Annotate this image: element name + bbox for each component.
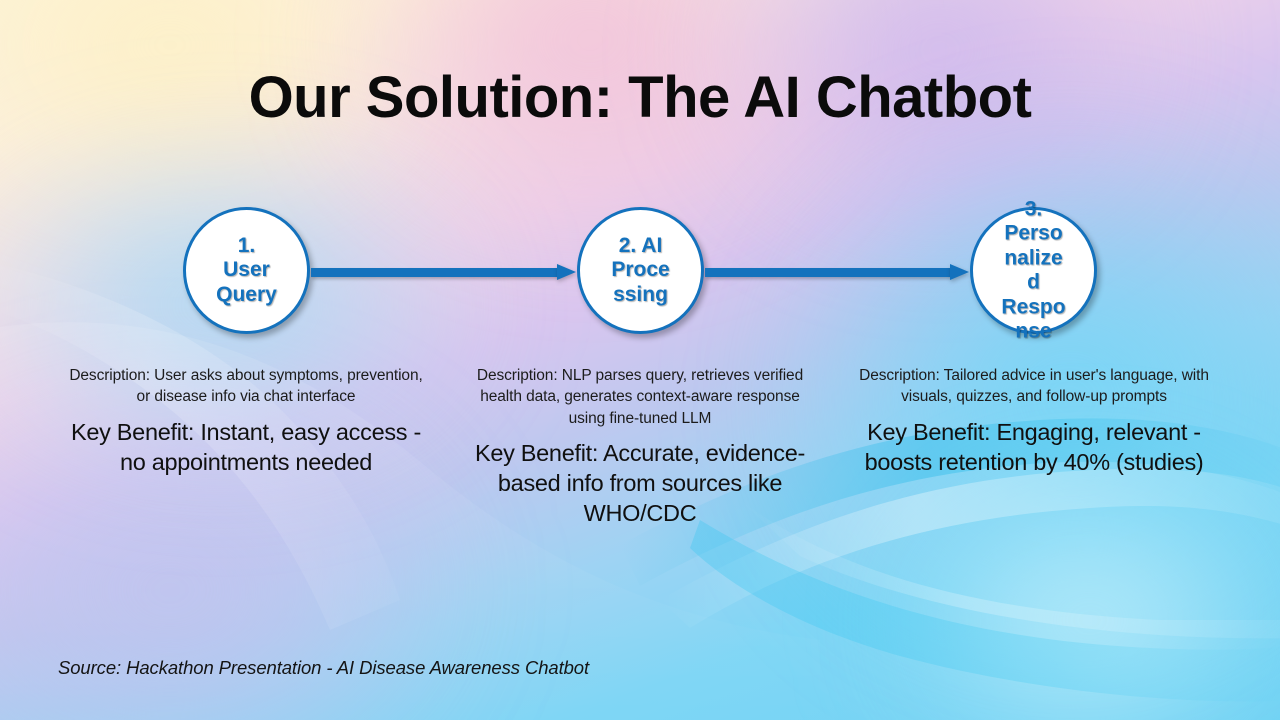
flow-column-3: Description: Tailored advice in user's l… (856, 365, 1212, 477)
flow-node-1[interactable]: 1. User Query (183, 207, 310, 334)
arrow-right-icon (705, 268, 951, 277)
flow-connector-1 (311, 264, 576, 280)
slide-title: Our Solution: The AI Chatbot (0, 64, 1280, 131)
flow-benefit-2: Key Benefit: Accurate, evidence-based in… (462, 438, 818, 528)
flow-node-2[interactable]: 2. AI Proce ssing (577, 207, 704, 334)
source-note: Source: Hackathon Presentation - AI Dise… (58, 657, 589, 679)
process-flow: 1. User Query 2. AI Proce ssing 3. Perso… (0, 207, 1280, 337)
arrow-right-icon (311, 268, 558, 277)
flow-column-1: Description: User asks about symptoms, p… (68, 365, 424, 477)
flow-column-2: Description: NLP parses query, retrieves… (462, 365, 818, 528)
arrow-head-icon (950, 264, 969, 280)
flow-node-3[interactable]: 3. Perso nalize d Respo nse (970, 207, 1097, 334)
flow-description-1: Description: User asks about symptoms, p… (68, 365, 424, 408)
flow-node-1-label: 1. User Query (204, 234, 290, 308)
arrow-head-icon (557, 264, 576, 280)
flow-description-2: Description: NLP parses query, retrieves… (462, 365, 818, 429)
flow-benefit-3: Key Benefit: Engaging, relevant - boosts… (856, 417, 1212, 477)
flow-node-2-label: 2. AI Proce ssing (598, 234, 684, 308)
flow-description-3: Description: Tailored advice in user's l… (856, 365, 1212, 408)
flow-benefit-1: Key Benefit: Instant, easy access - no a… (68, 417, 424, 477)
flow-connector-2 (705, 264, 969, 280)
slide-canvas: Our Solution: The AI Chatbot 1. User Que… (0, 0, 1280, 720)
flow-node-3-label: 3. Perso nalize d Respo nse (994, 197, 1074, 344)
